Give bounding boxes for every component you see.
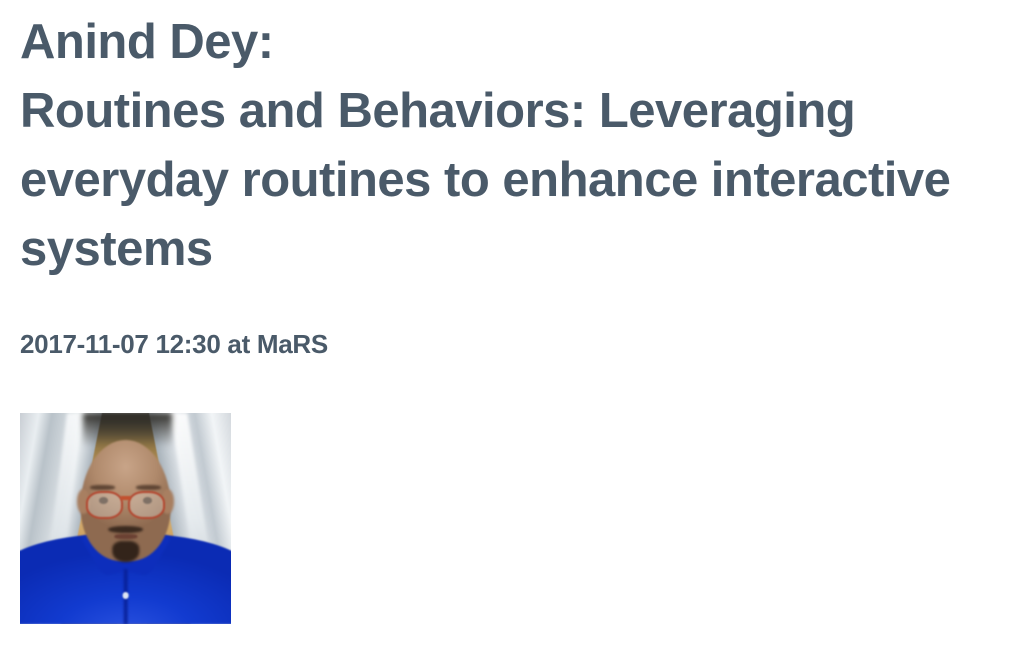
speaker-name: Anind Dey: (20, 8, 1004, 77)
photo-eyebrow-right (136, 485, 161, 490)
speaker-photo-wrapper (20, 413, 231, 624)
photo-glasses-right-lens (128, 491, 165, 519)
speaker-portrait-image (20, 413, 231, 624)
event-page: Anind Dey: Routines and Behaviors: Lever… (0, 0, 1024, 654)
page-title: Anind Dey: Routines and Behaviors: Lever… (20, 0, 1004, 284)
photo-eyebrow-left (90, 485, 115, 490)
photo-glasses-left-lens (86, 491, 123, 519)
photo-glasses-bridge (120, 496, 131, 499)
photo-mouth (114, 534, 137, 539)
photo-mustache (108, 526, 144, 534)
photo-shirt-button (122, 592, 129, 599)
talk-title: Routines and Behaviors: Leveraging every… (20, 77, 1004, 284)
event-datetime-venue: 2017-11-07 12:30 at MaRS (20, 284, 1004, 360)
